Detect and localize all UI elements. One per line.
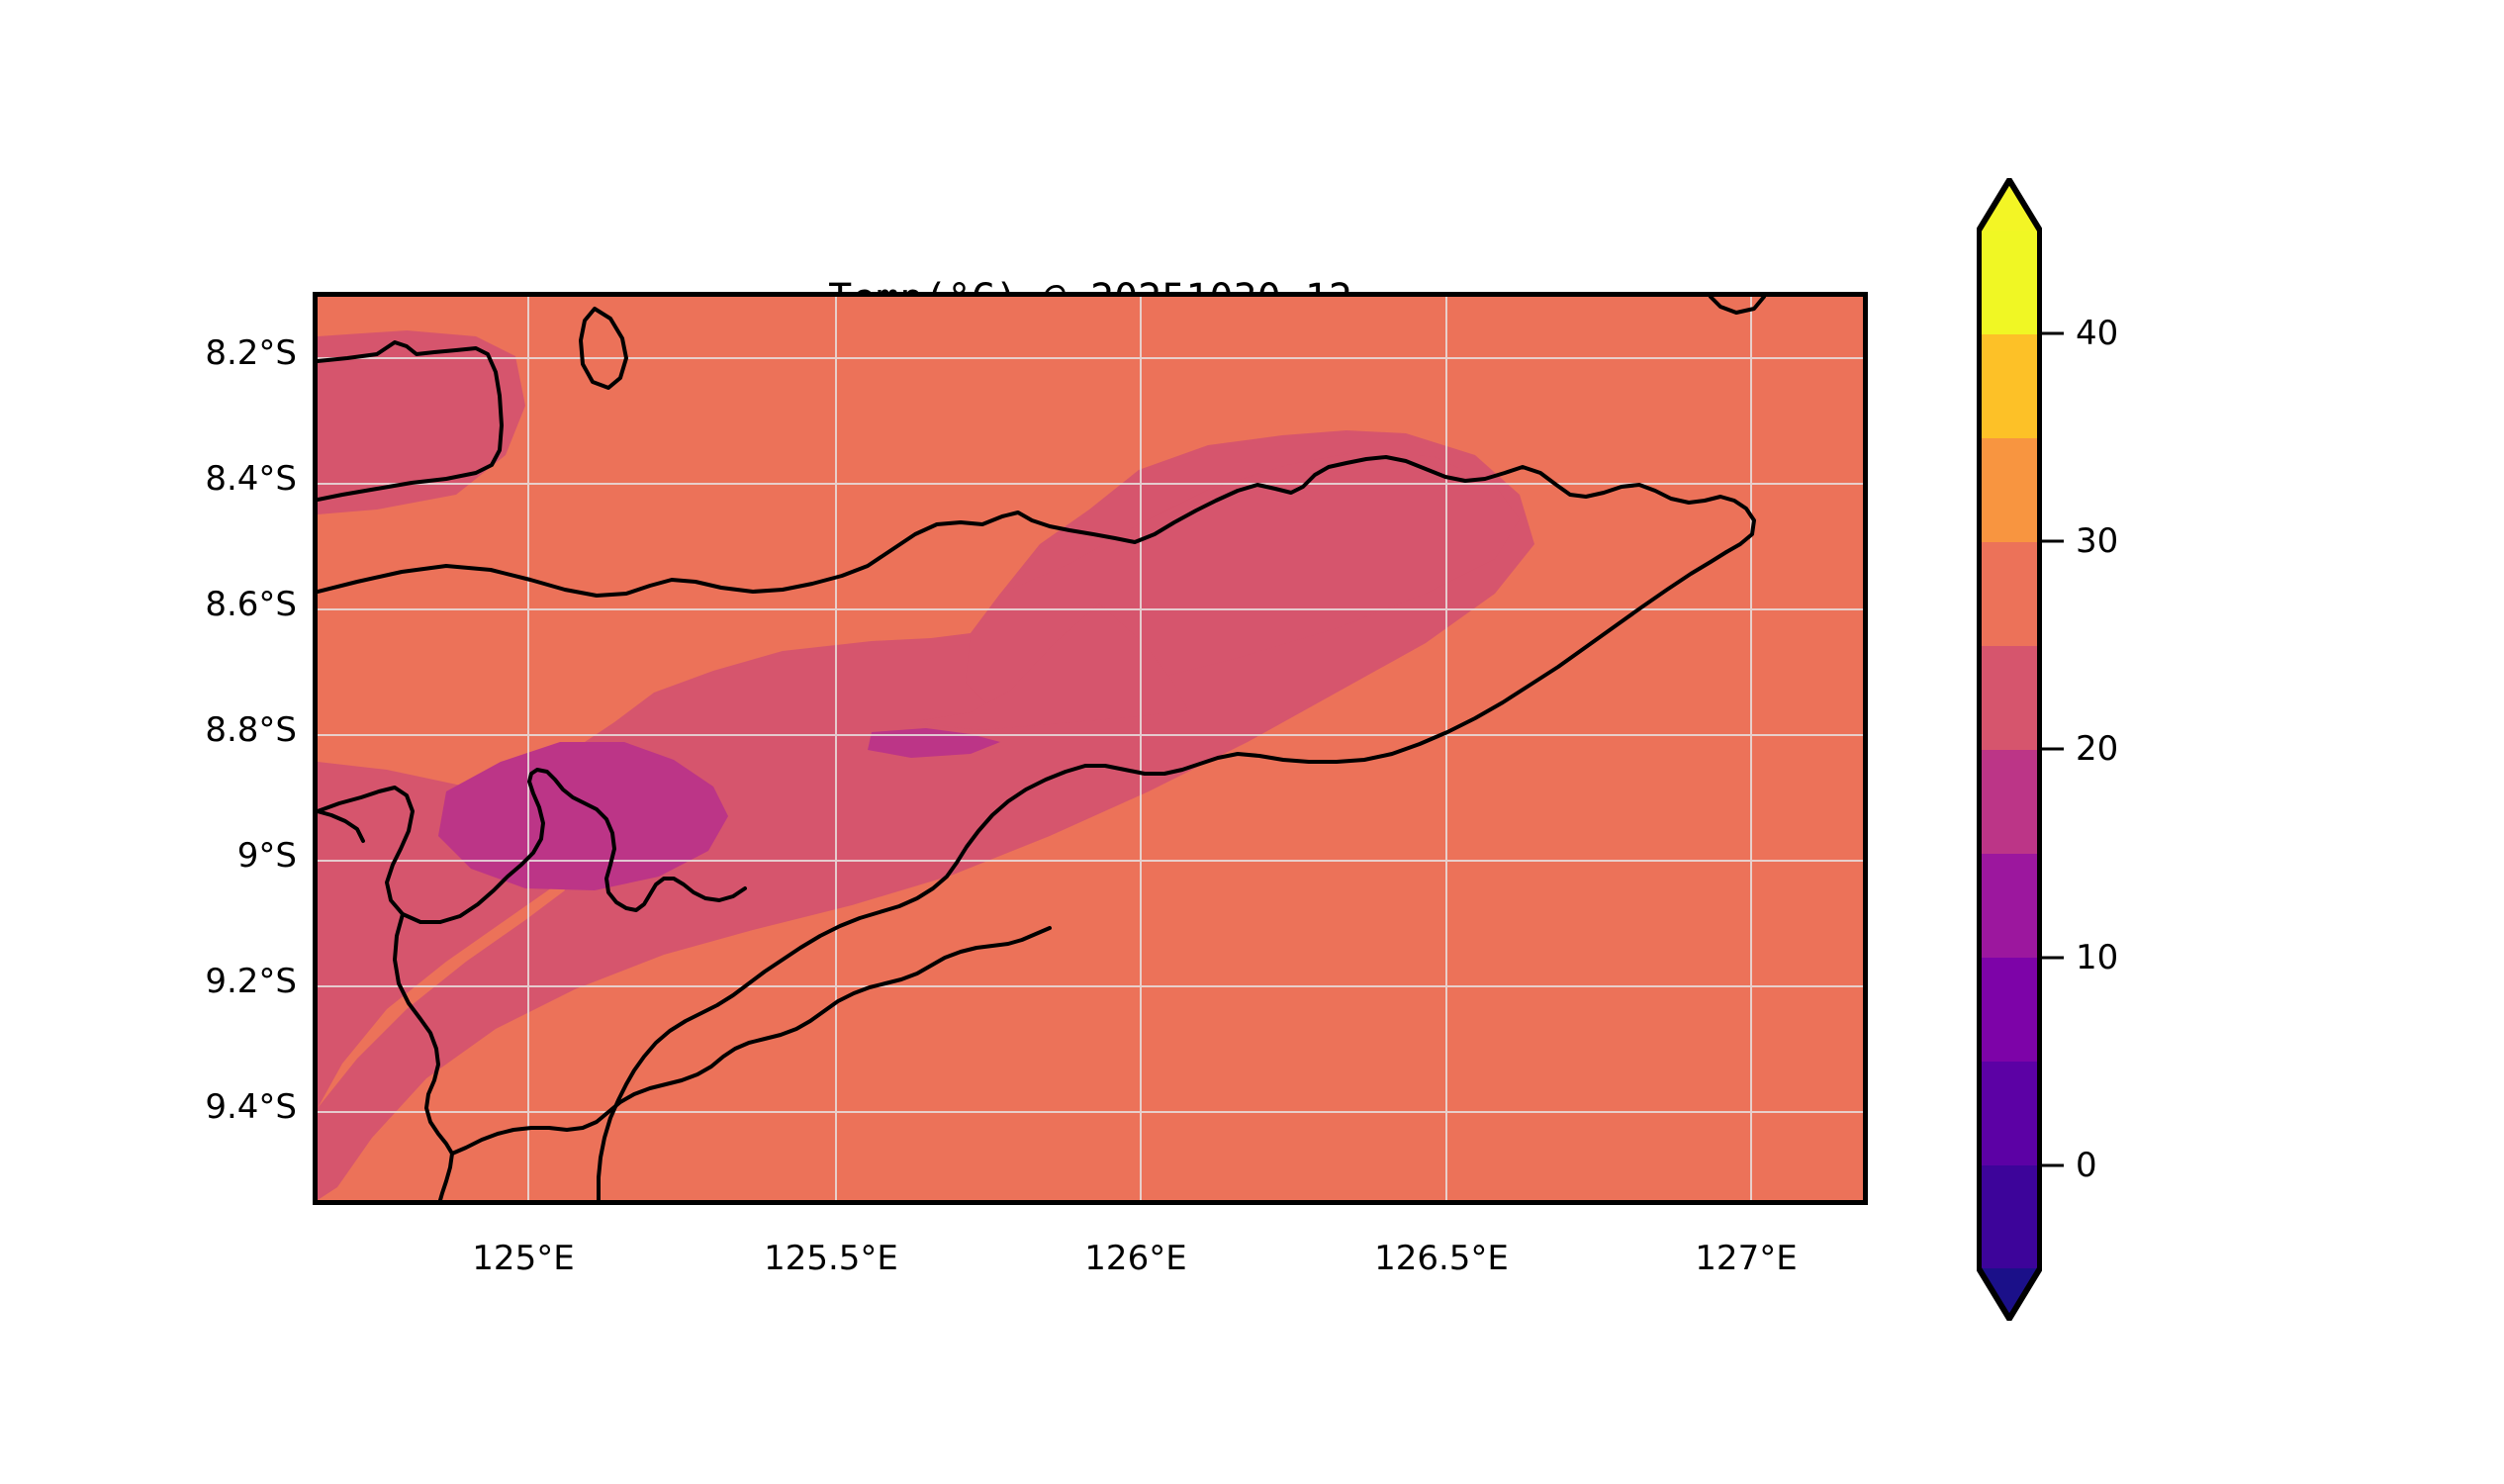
colorbar-tick-label: 20: [2076, 729, 2118, 769]
colorbar-tick-label: 40: [2076, 314, 2118, 353]
colorbar-tick-mark: [2042, 540, 2064, 543]
x-tick-label: 127°E: [1695, 1239, 1797, 1278]
x-tick-label: 125°E: [472, 1239, 574, 1278]
x-tick-label: 126.5°E: [1374, 1239, 1509, 1278]
colorbar-tick-group: 40 30 20 10 0: [1977, 0, 2372, 1484]
colorbar-tick-mark: [2042, 1164, 2064, 1167]
colorbar-tick-mark: [2042, 332, 2064, 335]
colorbar-tick-label: 10: [2076, 938, 2118, 977]
colorbar-tick-mark: [2042, 957, 2064, 960]
x-tick-label: 126°E: [1084, 1239, 1186, 1278]
x-tick-label: 125.5°E: [764, 1239, 898, 1278]
figure-canvas: Temp(°C) @ 20251030_12 Simulation Time: …: [0, 0, 2504, 1484]
colorbar-tick-label: 0: [2076, 1146, 2097, 1185]
colorbar-tick-mark: [2042, 748, 2064, 751]
colorbar-tick-label: 30: [2076, 521, 2118, 561]
